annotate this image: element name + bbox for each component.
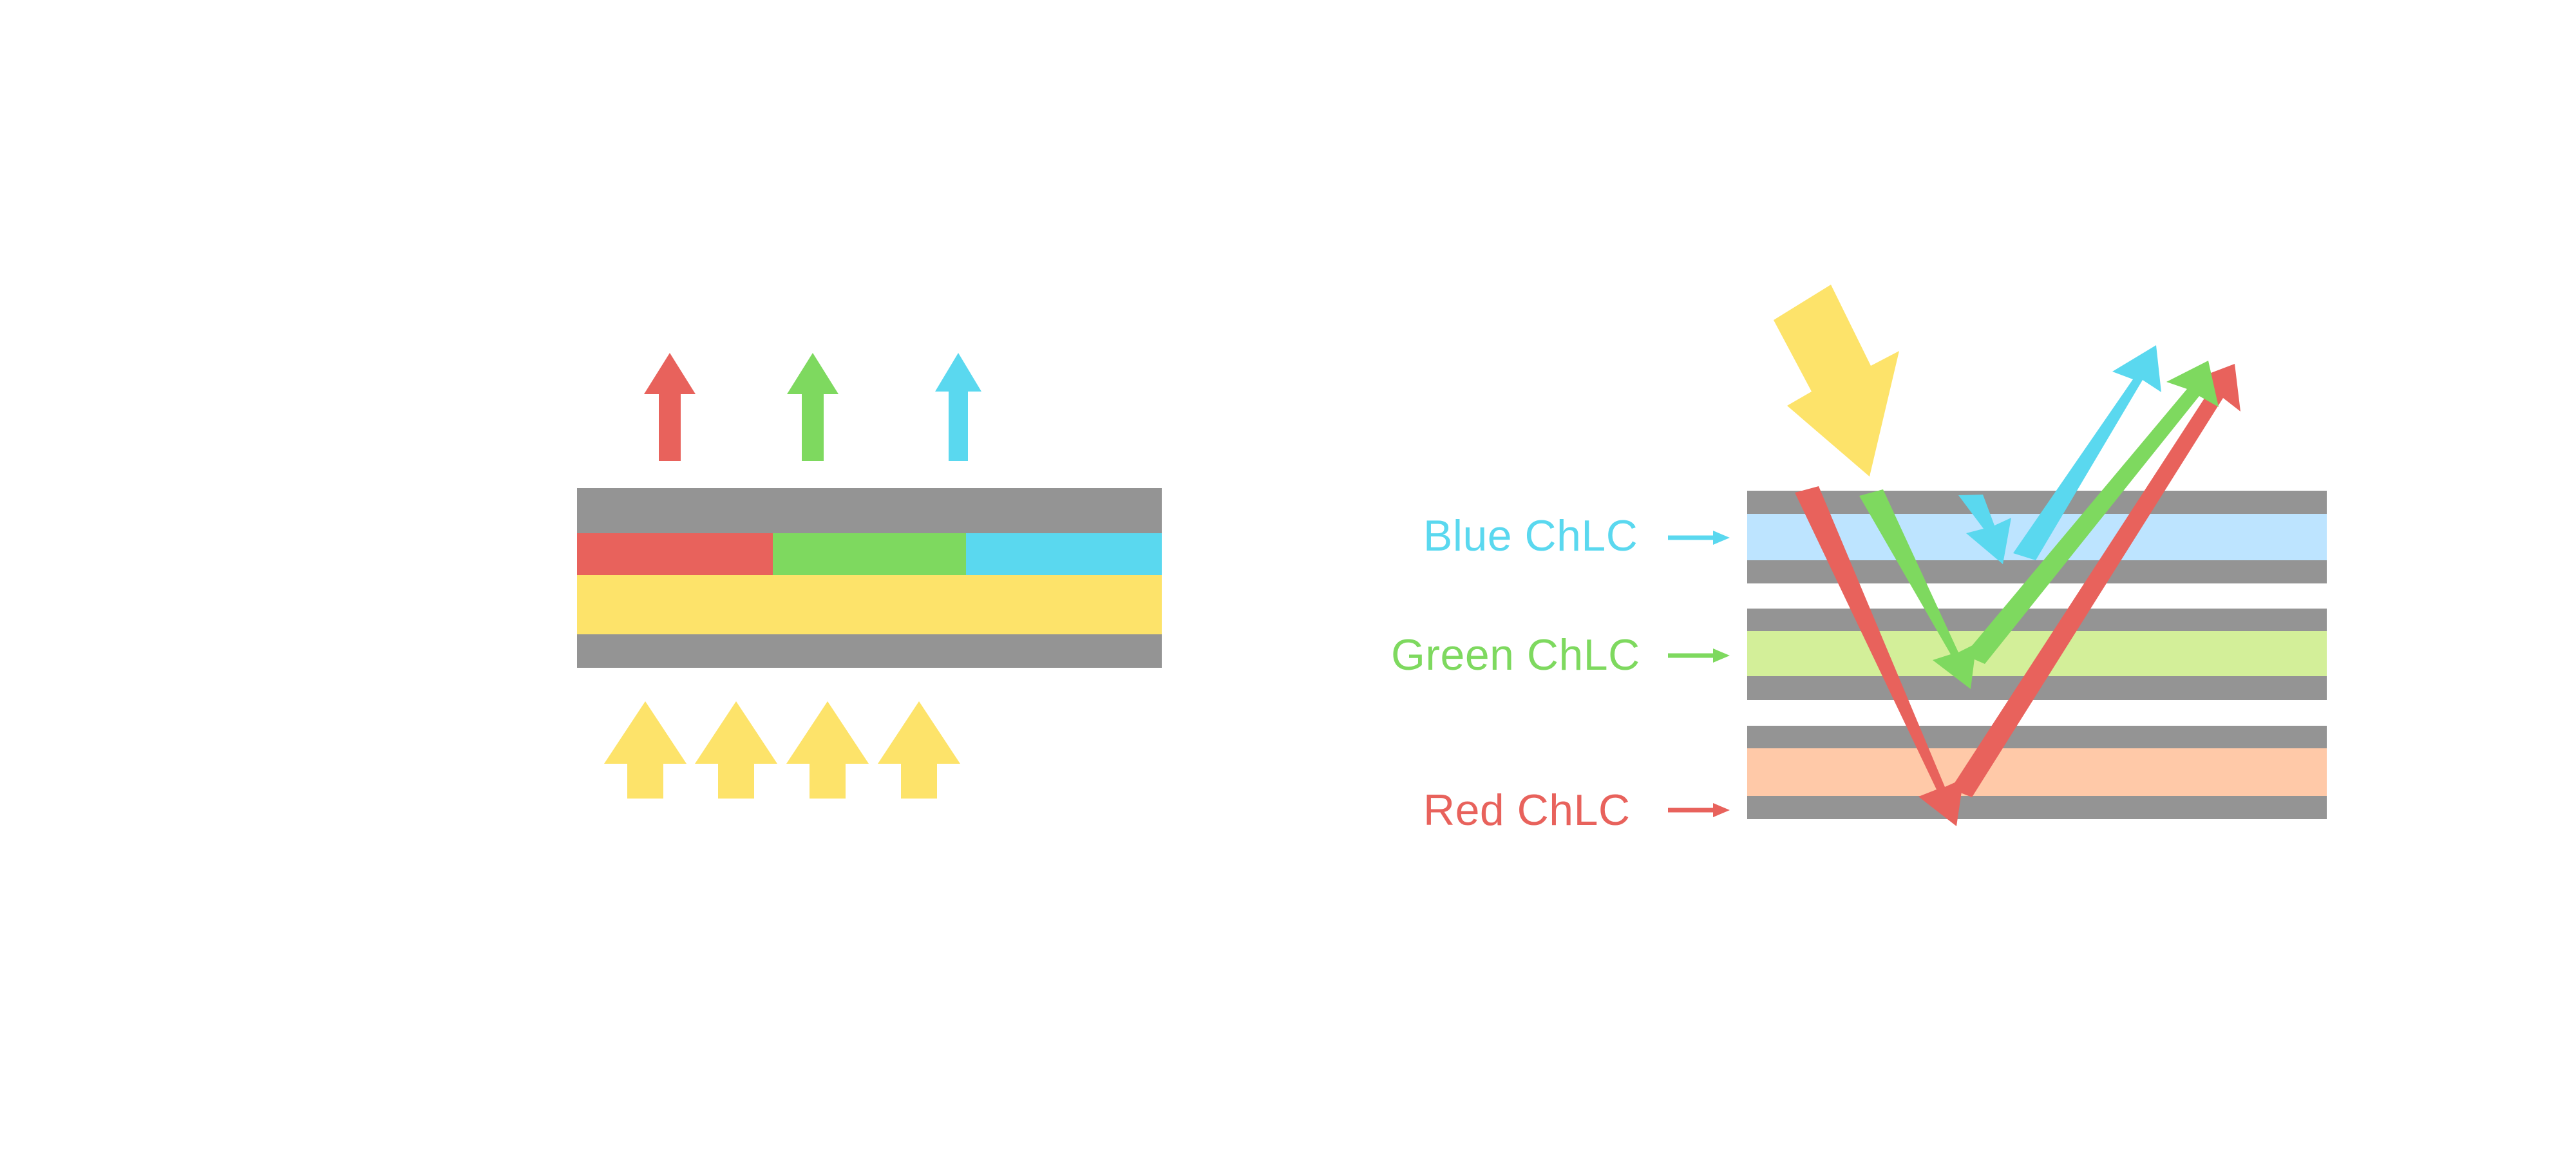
right-layer-red-top-electrode xyxy=(1747,726,2327,748)
label-green-chlc-text: Green ChLC xyxy=(1391,630,1640,679)
chlc-display-diagram: Blue ChLC Green ChLC Red ChLC xyxy=(0,0,2576,1154)
right-layer-red-chlc xyxy=(1747,748,2327,796)
right-layer-blue-top-electrode xyxy=(1747,491,2327,514)
right-layer-green-top-electrode xyxy=(1747,609,2327,631)
figure-root: Blue ChLC Green ChLC Red ChLC xyxy=(0,0,2576,1154)
left-layer-bottom-electrode xyxy=(577,634,1162,668)
right-layer-red-bottom-electrode xyxy=(1747,796,2327,819)
label-blue-chlc-text: Blue ChLC xyxy=(1423,511,1638,560)
left-layer-red-filter xyxy=(577,533,773,575)
left-layer-top-electrode xyxy=(577,488,1162,533)
left-stack xyxy=(577,488,1162,668)
left-layer-yellow-backlight xyxy=(577,575,1162,634)
label-red-chlc-text: Red ChLC xyxy=(1423,786,1631,835)
left-layer-blue-filter xyxy=(966,533,1162,575)
left-layer-green-filter xyxy=(773,533,966,575)
